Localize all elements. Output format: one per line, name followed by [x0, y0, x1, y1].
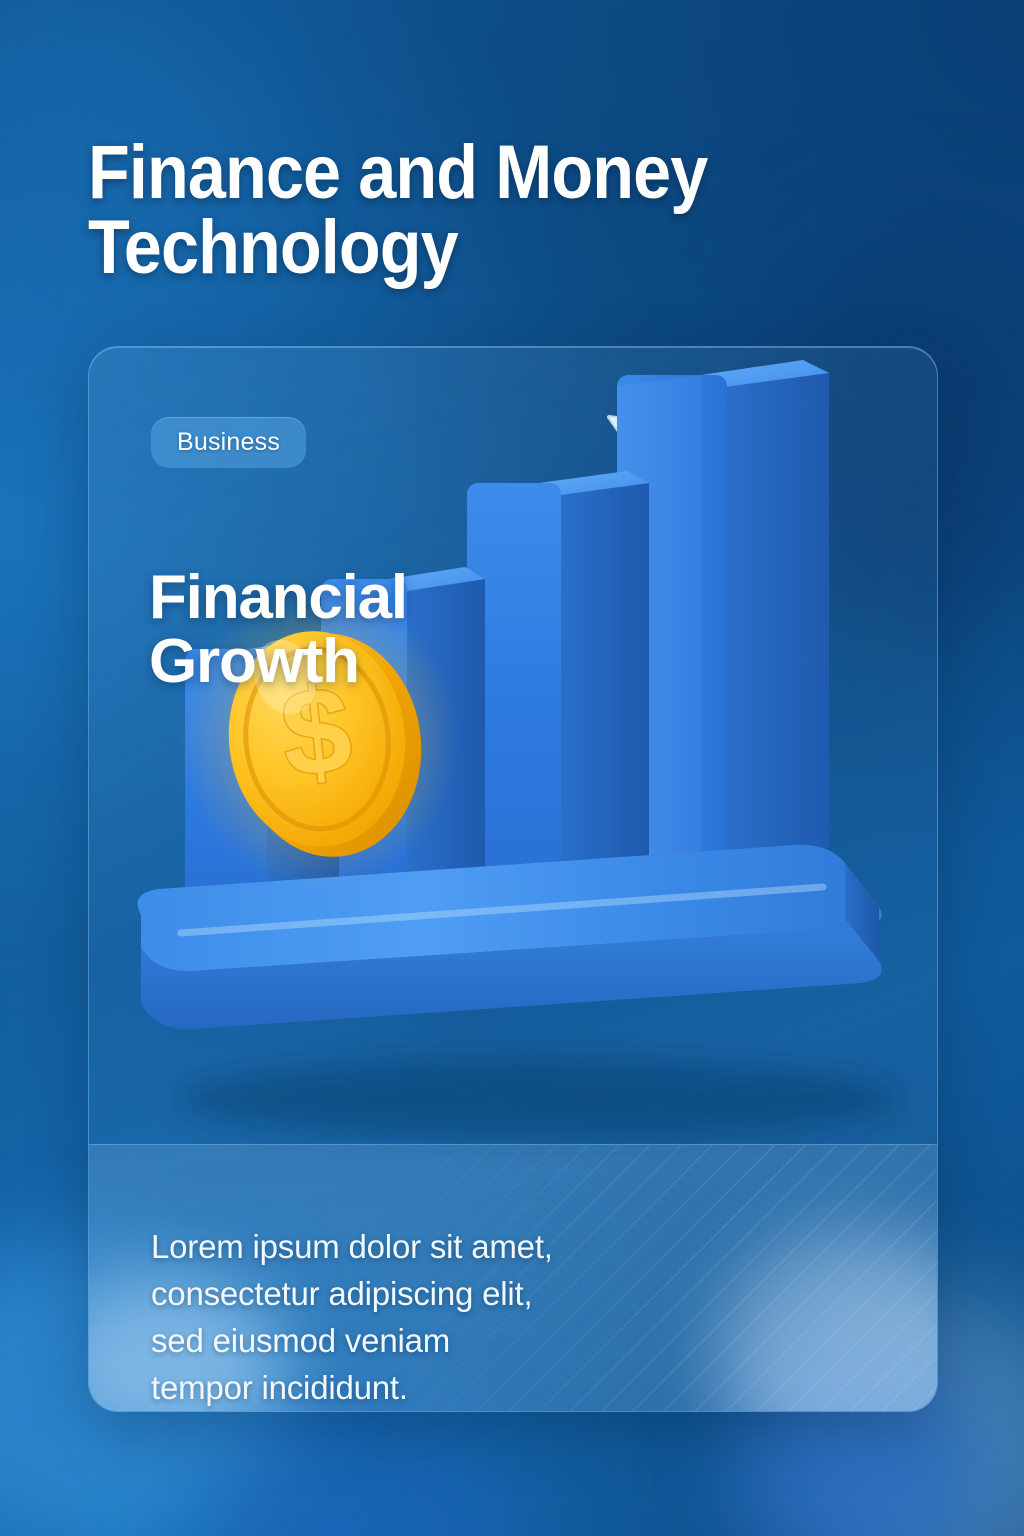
card-body-text: Lorem ipsum dolor sit amet, consectetur …: [151, 1224, 621, 1411]
feature-card: $ Business Financial Growth Lorem ipsum …: [88, 346, 938, 1412]
financial-growth-illustration: $: [89, 347, 937, 1167]
card-heading: Financial Growth: [149, 566, 579, 692]
background-bokeh-bottom-center: [200, 1430, 520, 1536]
card-footer: Lorem ipsum dolor sit amet, consectetur …: [89, 1144, 937, 1411]
bar-4: [617, 360, 829, 887]
category-badge[interactable]: Business: [151, 417, 306, 468]
base-platform: [138, 845, 882, 1029]
poster-root: Finance and Money Technology: [0, 0, 1024, 1536]
page-title: Finance and Money Technology: [88, 135, 862, 285]
